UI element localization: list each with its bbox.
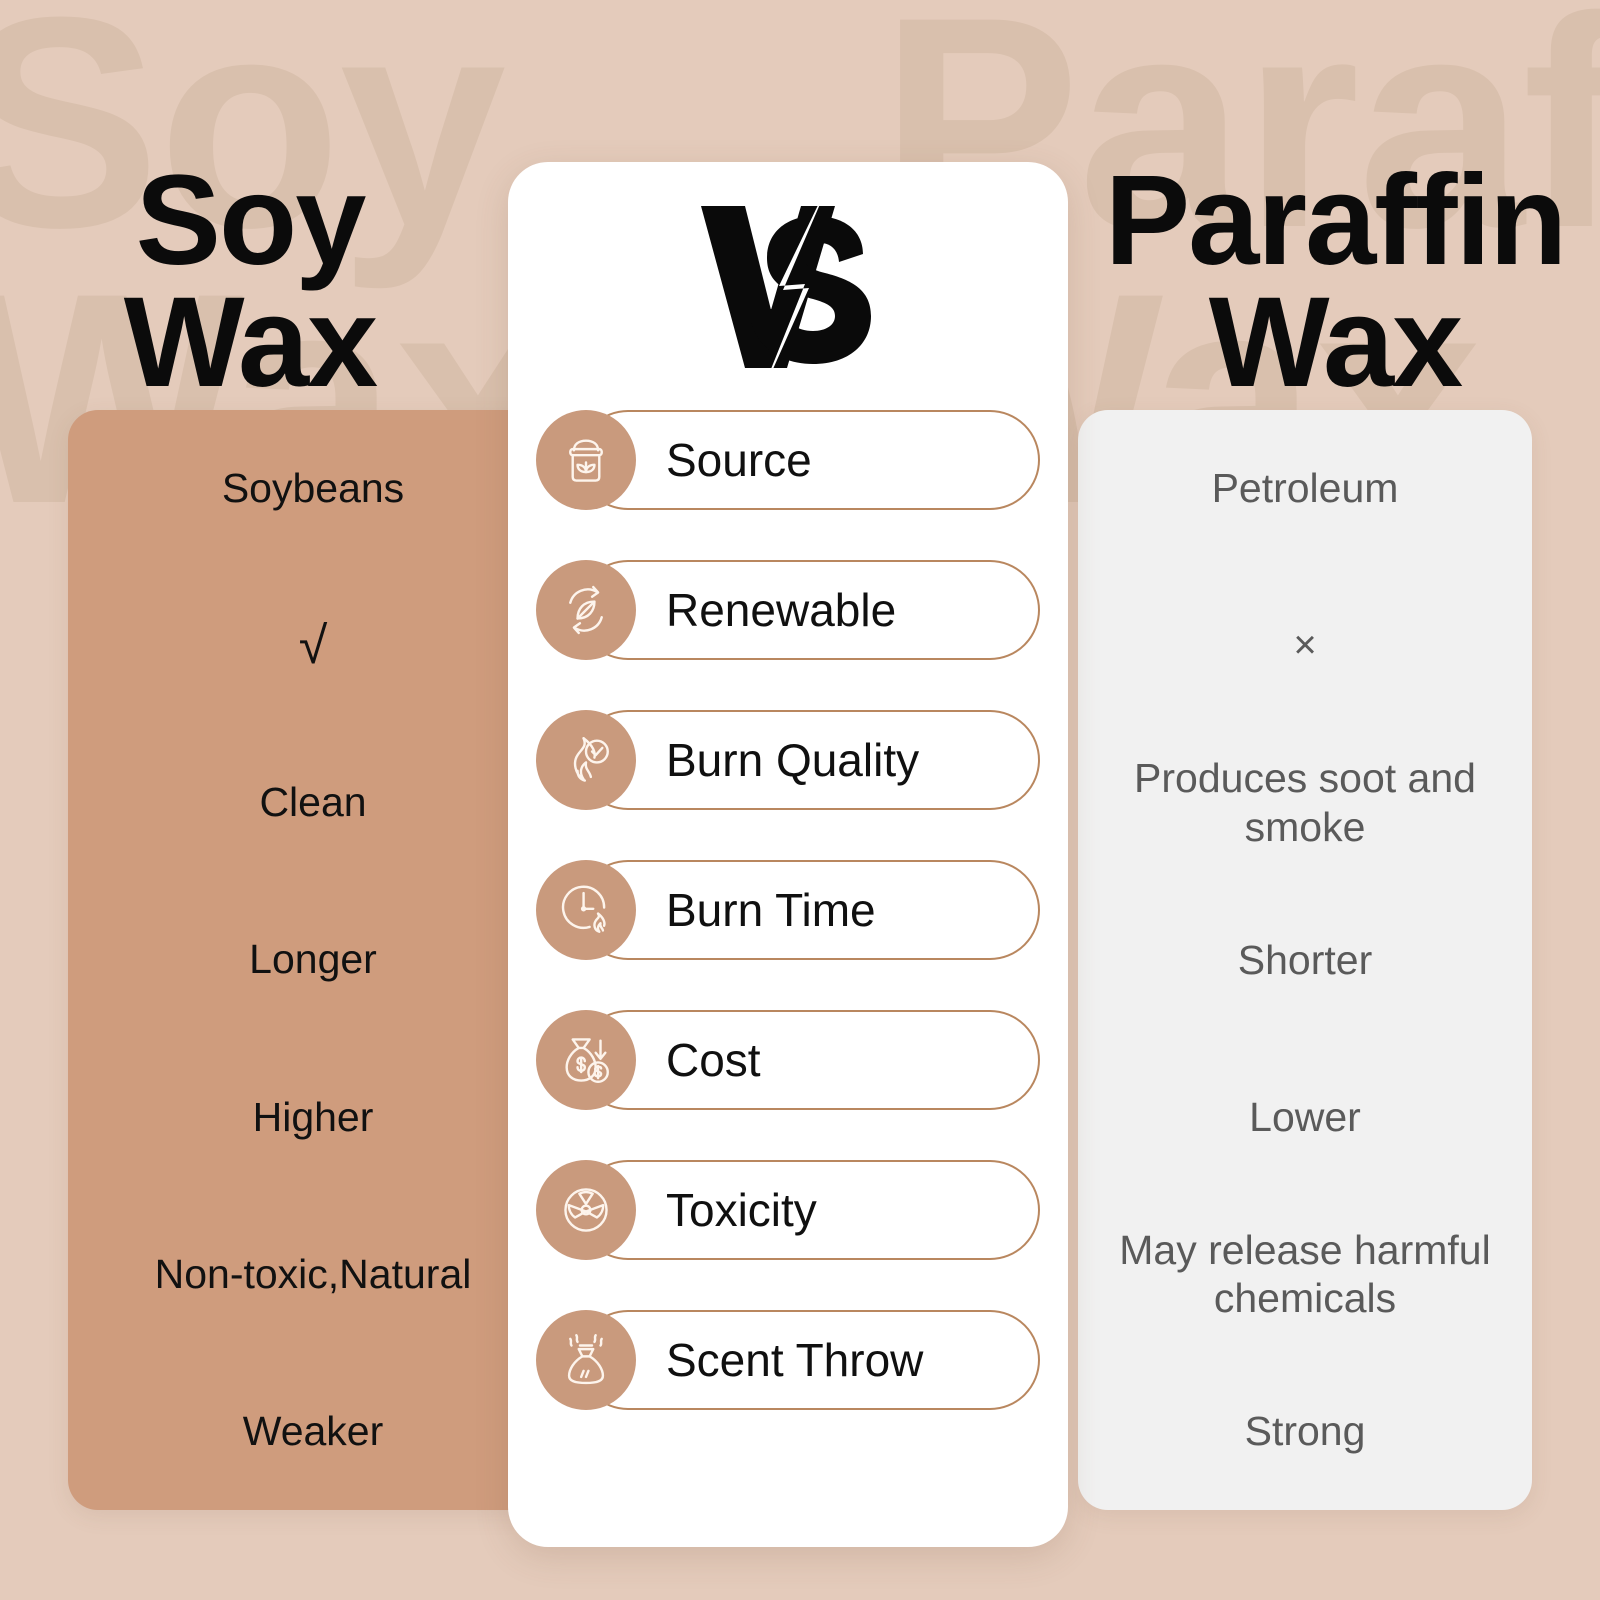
scented-sachet-icon xyxy=(536,1310,636,1410)
clock-flame-icon xyxy=(536,860,636,960)
criteria-row-toxicity[interactable]: Toxicity xyxy=(536,1160,1040,1260)
criteria-row-cost[interactable]: Cost xyxy=(536,1010,1040,1110)
soy-value-burn-time: Longer xyxy=(68,881,558,1038)
criteria-row-renewable[interactable]: Renewable xyxy=(536,560,1040,660)
soy-value-source: Soybeans xyxy=(68,410,558,567)
soy-value-burn-quality: Clean xyxy=(68,724,558,881)
money-bag-arrow-icon xyxy=(536,1010,636,1110)
heading-paraffin-wax: Paraffin Wax xyxy=(1070,160,1600,403)
soy-wax-values-panel: Soybeans √ Clean Longer Higher Non-toxic… xyxy=(68,410,558,1510)
pill-background xyxy=(578,1010,1040,1110)
criteria-row-burn-quality[interactable]: Burn Quality xyxy=(536,710,1040,810)
seed-sack-icon xyxy=(536,410,636,510)
criteria-row-source[interactable]: Source xyxy=(536,410,1040,510)
paraffin-wax-values-panel: Petroleum × Produces soot and smoke Shor… xyxy=(1078,410,1532,1510)
paraffin-value-renewable: × xyxy=(1078,567,1532,724)
criteria-label-source: Source xyxy=(666,433,812,487)
soy-value-renewable: √ xyxy=(68,567,558,724)
vs-lightning-icon xyxy=(683,178,893,408)
paraffin-value-burn-quality: Produces soot and smoke xyxy=(1078,724,1532,881)
criteria-rows: Source Renewable xyxy=(508,410,1068,1410)
recycle-leaf-icon xyxy=(536,560,636,660)
vs-logo xyxy=(508,162,1068,410)
heading-soy-wax: Soy Wax xyxy=(0,160,500,403)
criteria-label-burn-time: Burn Time xyxy=(666,883,876,937)
criteria-label-toxicity: Toxicity xyxy=(666,1183,817,1237)
flame-check-icon xyxy=(536,710,636,810)
paraffin-value-toxicity: May release harmful chemicals xyxy=(1078,1196,1532,1353)
comparison-infographic: Soy Wax Paraffi Wax Soy Wax Paraffin Wax… xyxy=(0,0,1600,1600)
criteria-label-renewable: Renewable xyxy=(666,583,896,637)
criteria-row-scent-throw[interactable]: Scent Throw xyxy=(536,1310,1040,1410)
radioactive-icon xyxy=(536,1160,636,1260)
criteria-label-burn-quality: Burn Quality xyxy=(666,733,919,787)
criteria-label-cost: Cost xyxy=(666,1033,761,1087)
soy-value-toxicity: Non-toxic,Natural xyxy=(68,1196,558,1353)
soy-value-cost: Higher xyxy=(68,1039,558,1196)
paraffin-value-burn-time: Shorter xyxy=(1078,881,1532,1038)
paraffin-value-cost: Lower xyxy=(1078,1039,1532,1196)
soy-value-scent-throw: Weaker xyxy=(68,1353,558,1510)
paraffin-value-scent-throw: Strong xyxy=(1078,1353,1532,1510)
criteria-card: Source Renewable xyxy=(508,162,1068,1547)
criteria-label-scent-throw: Scent Throw xyxy=(666,1333,923,1387)
criteria-row-burn-time[interactable]: Burn Time xyxy=(536,860,1040,960)
paraffin-value-source: Petroleum xyxy=(1078,410,1532,567)
